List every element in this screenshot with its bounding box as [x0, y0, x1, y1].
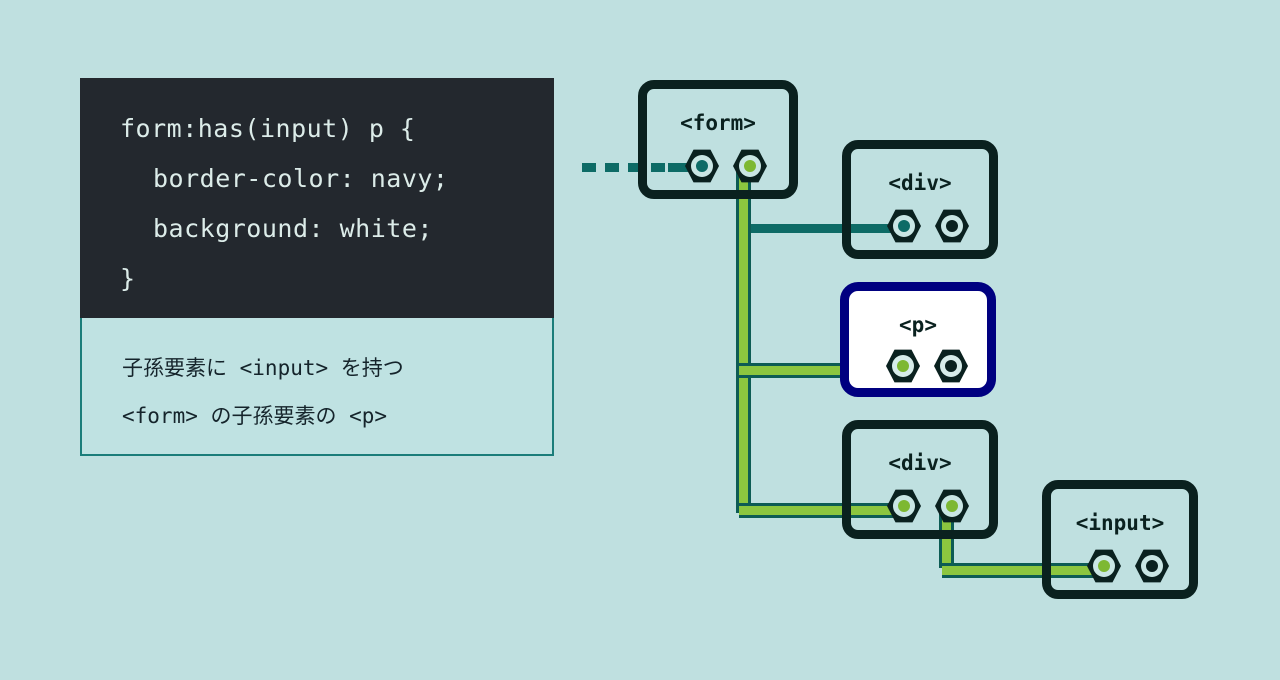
node-input[interactable]: <input> — [1042, 480, 1198, 599]
node-form[interactable]: <form> — [638, 80, 798, 199]
node-p-in-port[interactable] — [886, 349, 920, 383]
node-form-in-port[interactable] — [685, 149, 719, 183]
lead-in-dash-2 — [605, 163, 619, 172]
node-div-1-out-port[interactable] — [935, 209, 969, 243]
code-line-2: border-color: navy; — [120, 154, 514, 204]
node-div-1[interactable]: <div> — [842, 140, 998, 259]
port-core — [898, 500, 910, 512]
code-panel: form:has(input) p { border-color: navy; … — [80, 78, 554, 318]
lead-in-dash-1 — [582, 163, 596, 172]
port-core — [946, 220, 958, 232]
node-form-label: <form> — [647, 111, 789, 135]
caption-panel: 子孫要素に <input> を持つ <form> の子孫要素の <p> — [80, 318, 554, 456]
wire-green-trunk — [736, 165, 751, 513]
node-div-1-label: <div> — [851, 171, 989, 195]
node-div-2-label: <div> — [851, 451, 989, 475]
caption-line-1: 子孫要素に <input> を持つ — [122, 344, 512, 392]
code-line-4: } — [120, 254, 514, 304]
port-core — [946, 500, 958, 512]
node-form-out-port[interactable] — [733, 149, 767, 183]
node-div-1-in-port[interactable] — [887, 209, 921, 243]
diagram-canvas: form:has(input) p { border-color: navy; … — [0, 0, 1280, 680]
node-div-2-in-port[interactable] — [887, 489, 921, 523]
node-div-2[interactable]: <div> — [842, 420, 998, 539]
port-core — [696, 160, 708, 172]
explainer-card: form:has(input) p { border-color: navy; … — [80, 78, 554, 456]
node-p[interactable]: <p> — [840, 282, 996, 397]
node-input-in-port[interactable] — [1087, 549, 1121, 583]
code-line-1: form:has(input) p { — [120, 104, 514, 154]
caption-line-2: <form> の子孫要素の <p> — [122, 392, 512, 440]
code-line-3: background: white; — [120, 204, 514, 254]
node-p-label: <p> — [849, 313, 987, 337]
node-div-2-out-port[interactable] — [935, 489, 969, 523]
node-p-out-port[interactable] — [934, 349, 968, 383]
port-core — [945, 360, 957, 372]
port-core — [1098, 560, 1110, 572]
port-core — [898, 220, 910, 232]
port-core — [1146, 560, 1158, 572]
port-core — [897, 360, 909, 372]
port-core — [744, 160, 756, 172]
node-input-out-port[interactable] — [1135, 549, 1169, 583]
node-input-label: <input> — [1051, 511, 1189, 535]
